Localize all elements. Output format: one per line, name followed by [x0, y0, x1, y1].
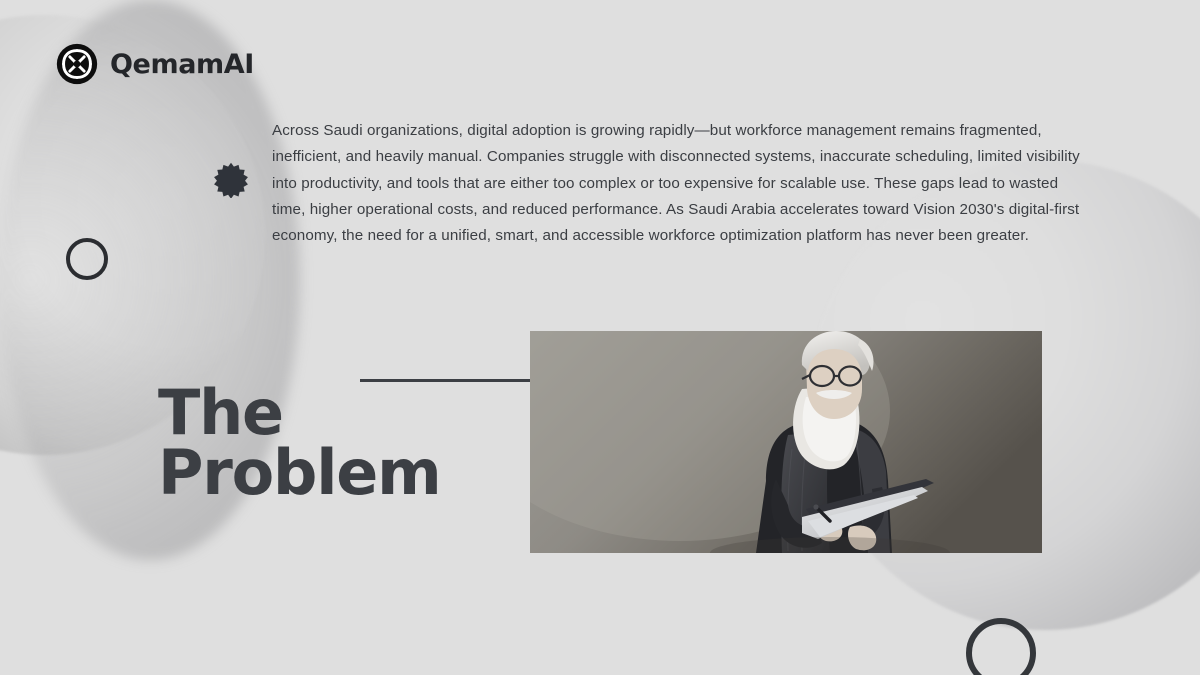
- circle-outline-icon: [66, 238, 108, 280]
- horizontal-rule-icon: [360, 379, 532, 382]
- brand-logo-lockup[interactable]: QemamAI: [56, 43, 254, 85]
- brand-wordmark: QemamAI: [110, 51, 254, 78]
- circle-outline-icon: [966, 618, 1036, 675]
- body-paragraph: Across Saudi organizations, digital adop…: [272, 118, 1092, 249]
- hero-photo: [530, 331, 1042, 553]
- celtic-knot-logo-icon: [56, 43, 98, 85]
- page-title: The Problem: [158, 383, 441, 502]
- slide-canvas: QemamAI Across Saudi organizations, digi…: [0, 0, 1200, 675]
